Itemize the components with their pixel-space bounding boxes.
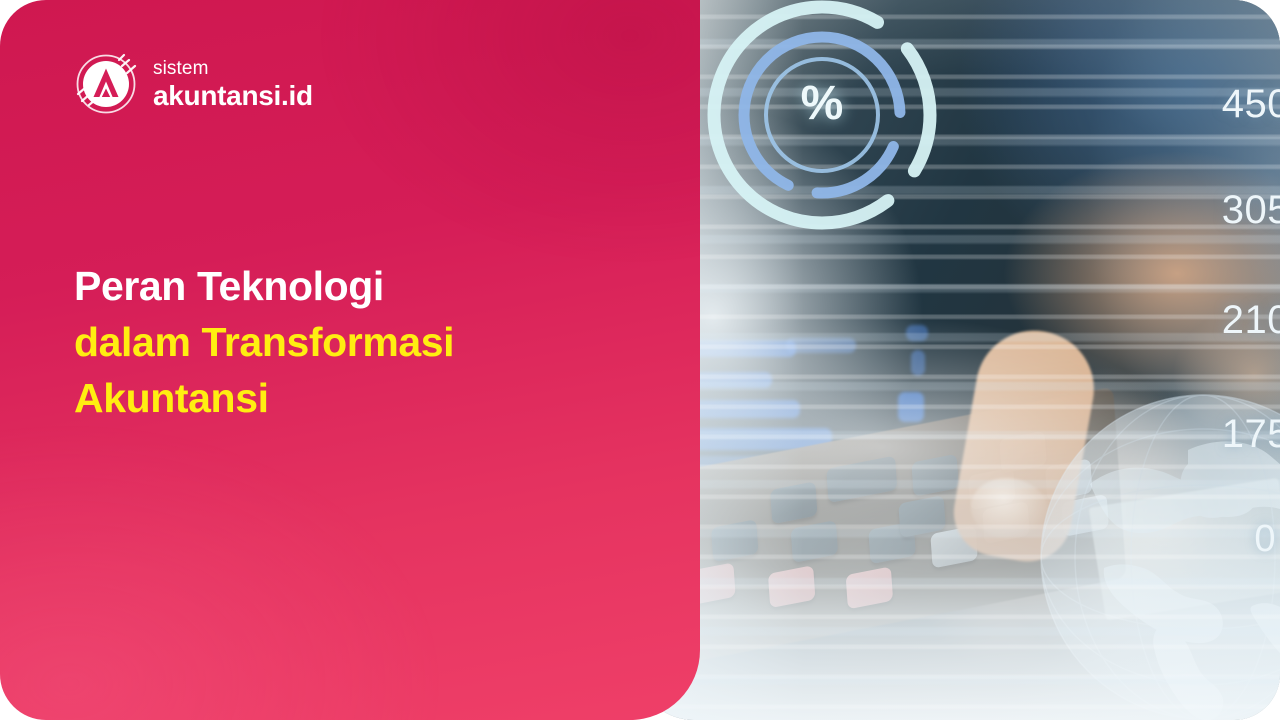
numeric-readouts: 450 305 210 175 0 <box>1154 0 1280 720</box>
percent-ring-icon: % <box>672 0 972 240</box>
headline-line-3: Akuntansi <box>74 370 594 426</box>
hero-photo-panel: % 450 305 210 175 0 <box>636 0 1280 720</box>
slide-canvas: % 450 305 210 175 0 <box>0 0 1280 720</box>
headline-line-1: Peran Teknologi <box>74 258 594 314</box>
readout-value: 210 <box>1222 298 1280 343</box>
percent-symbol: % <box>672 76 972 131</box>
headline-line-2: dalam Transformasi <box>74 314 594 370</box>
readout-value: 0 <box>1254 518 1276 561</box>
readout-value: 450 <box>1222 82 1280 127</box>
arrow-circle-logo-icon <box>72 50 140 118</box>
brand-logo[interactable]: sistem akuntansi.id <box>72 50 313 118</box>
brand-wordmark: sistem akuntansi.id <box>153 59 313 110</box>
headline: Peran Teknologi dalam Transformasi Akunt… <box>74 258 594 426</box>
brand-name-line2: akuntansi.id <box>153 82 313 110</box>
readout-value: 175 <box>1222 412 1280 457</box>
readout-value: 305 <box>1222 188 1280 233</box>
brand-name-line1: sistem <box>153 59 313 78</box>
